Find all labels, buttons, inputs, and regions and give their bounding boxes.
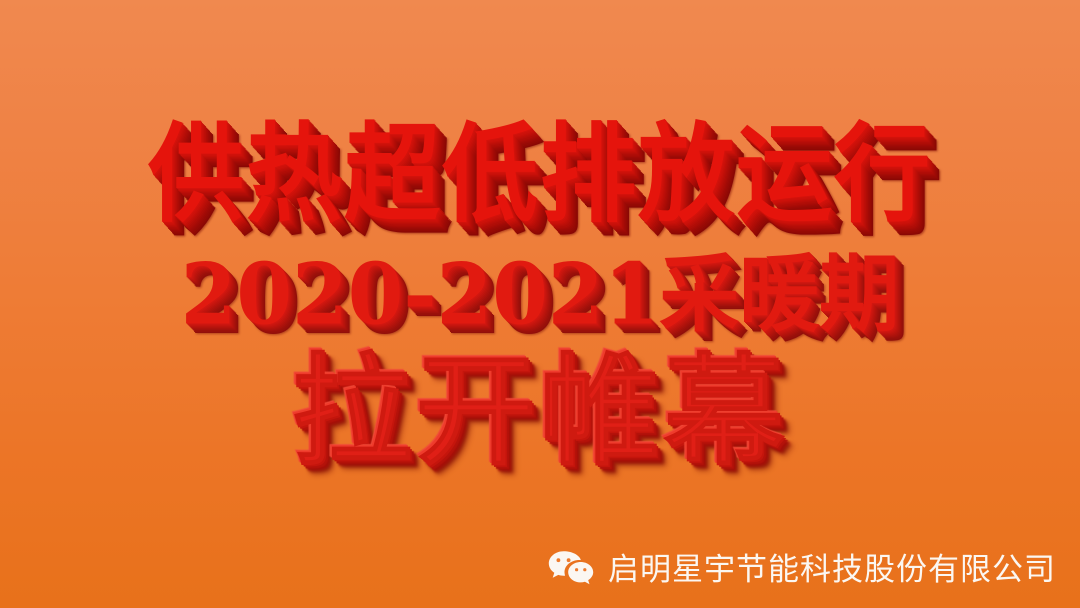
footer-company-name: 启明星宇节能科技股份有限公司 xyxy=(608,554,1056,585)
headline-line-1: 供热超低排放运行 xyxy=(0,122,1080,230)
footer-credit: 启明星宇节能科技股份有限公司 xyxy=(0,550,1056,588)
poster-canvas: 供热超低排放运行 2020-2021采暖期 拉开帷幕 启明星宇节能科技股份有限公… xyxy=(0,0,1080,608)
headline-line-2: 2020-2021采暖期 xyxy=(0,252,1080,337)
headline-line-2-years: 2020-2021 xyxy=(181,245,660,344)
wechat-icon xyxy=(548,550,594,588)
headline-line-3: 拉开帷幕 xyxy=(0,352,1080,472)
headline-line-2-season: 采暖期 xyxy=(659,248,899,341)
